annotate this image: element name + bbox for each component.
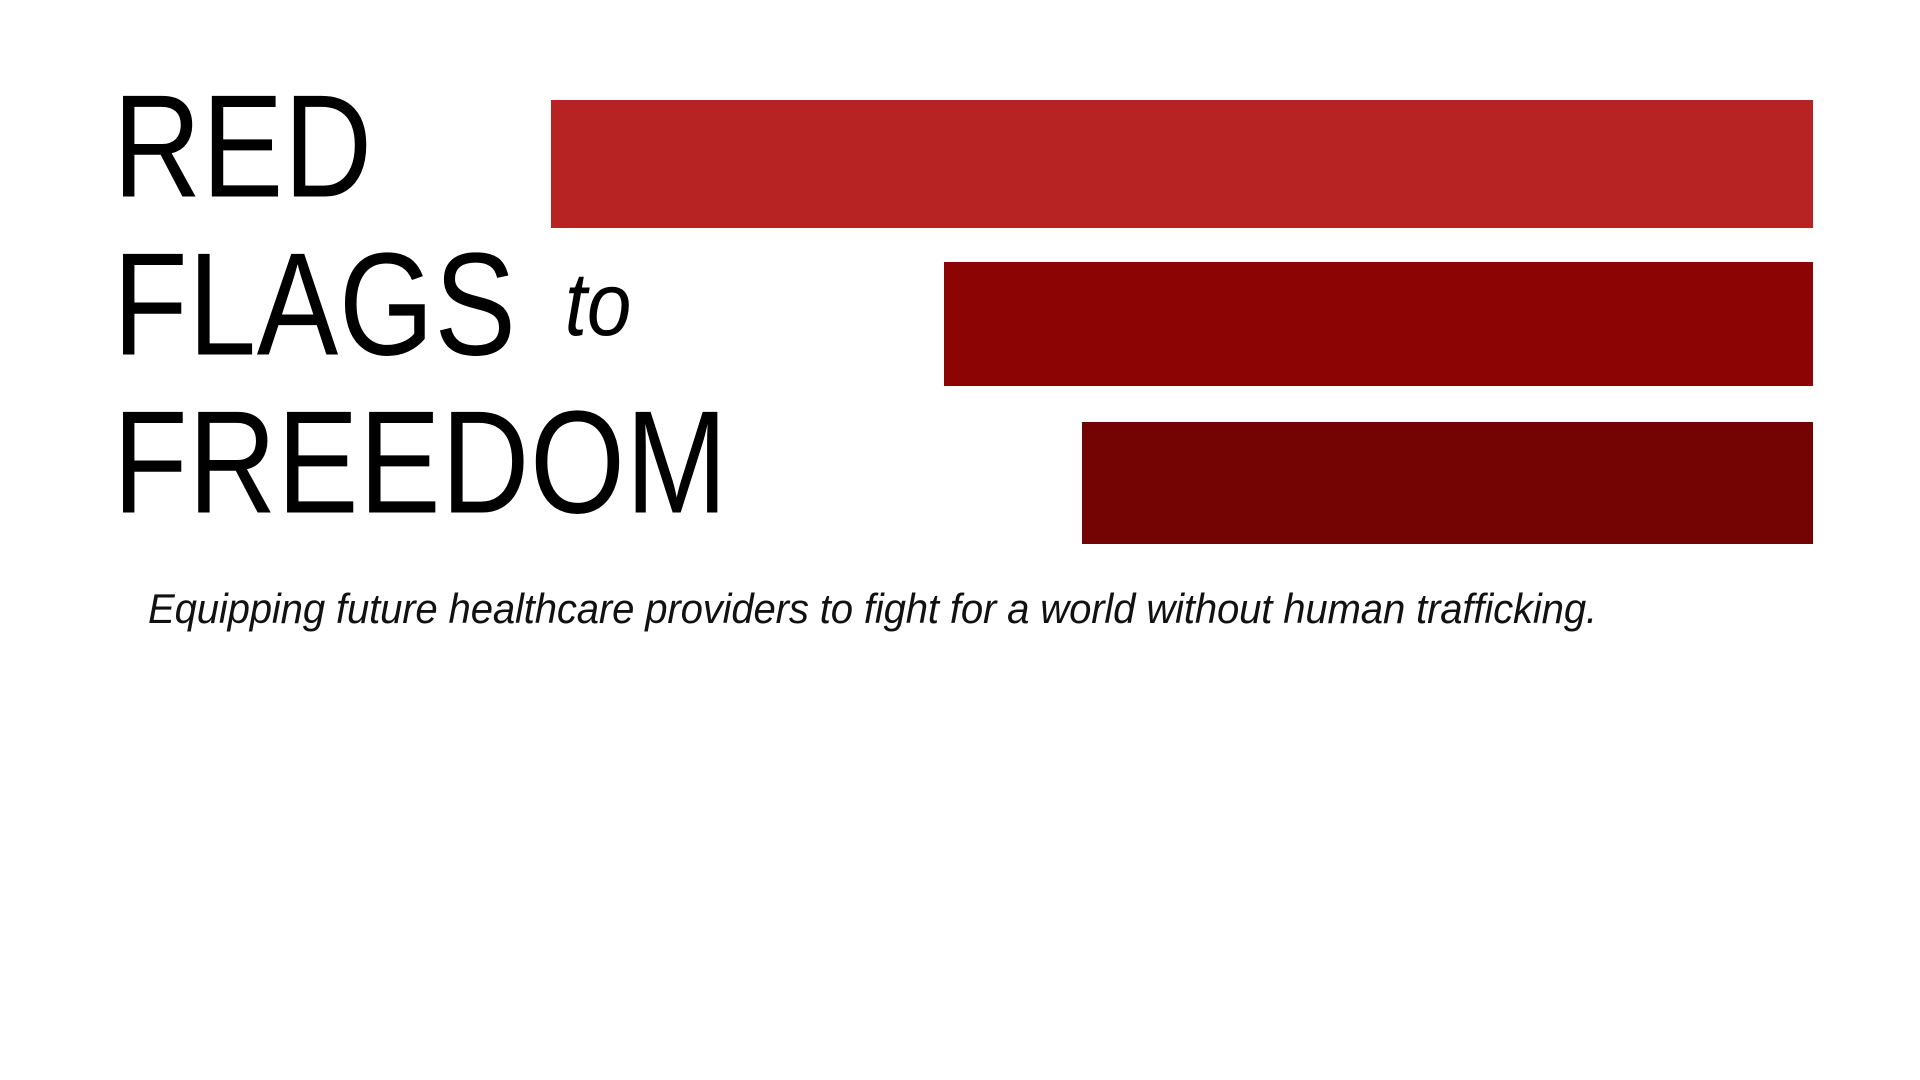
logo-tagline: Equipping future healthcare providers to… bbox=[148, 586, 1772, 632]
logo-canvas: RED FLAGS to FREEDOM Equipping future he… bbox=[0, 0, 1920, 1080]
wordmark-word-flags: FLAGS bbox=[113, 232, 517, 378]
wordmark-word-to: to bbox=[565, 260, 632, 350]
wordmark-line-2: FLAGS to bbox=[113, 240, 1873, 370]
wordmark-line-1: RED bbox=[113, 82, 1873, 212]
wordmark-word-red: RED bbox=[113, 74, 373, 220]
wordmark-word-freedom: FREEDOM bbox=[113, 390, 728, 536]
logo-wordmark: RED FLAGS to FREEDOM bbox=[113, 72, 1873, 552]
wordmark-line-3: FREEDOM bbox=[113, 398, 1873, 528]
